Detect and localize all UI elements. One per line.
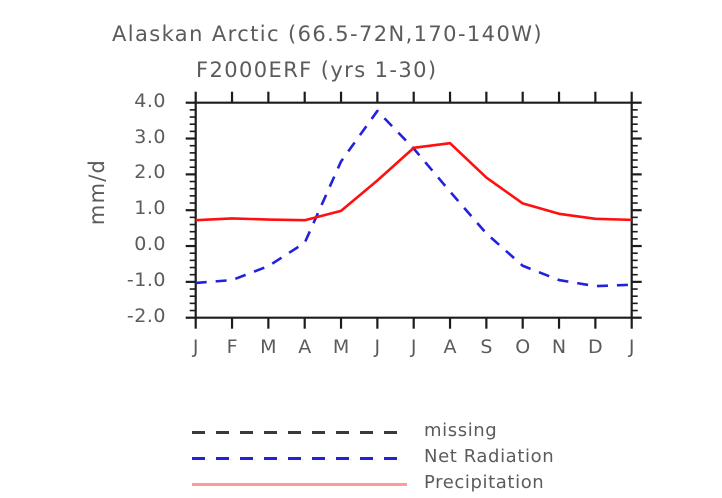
legend-item: Precipitation [192,472,612,498]
legend-label: Net Radiation [424,446,554,467]
legend-line-sample [192,431,407,434]
chart-legend: missingNet RadiationPrecipitation [192,420,612,498]
series-line [196,111,632,286]
legend-label: missing [424,420,497,441]
legend-item: Net Radiation [192,446,612,472]
series-line [196,143,632,220]
series-lines [196,111,632,286]
axis-frame [186,92,642,329]
legend-label: Precipitation [424,472,544,493]
legend-line-sample [192,483,407,486]
legend-item: missing [192,420,612,446]
chart-figure: Alaskan Arctic (66.5-72N,170-140W) F2000… [0,0,722,497]
legend-line-sample [192,457,407,460]
